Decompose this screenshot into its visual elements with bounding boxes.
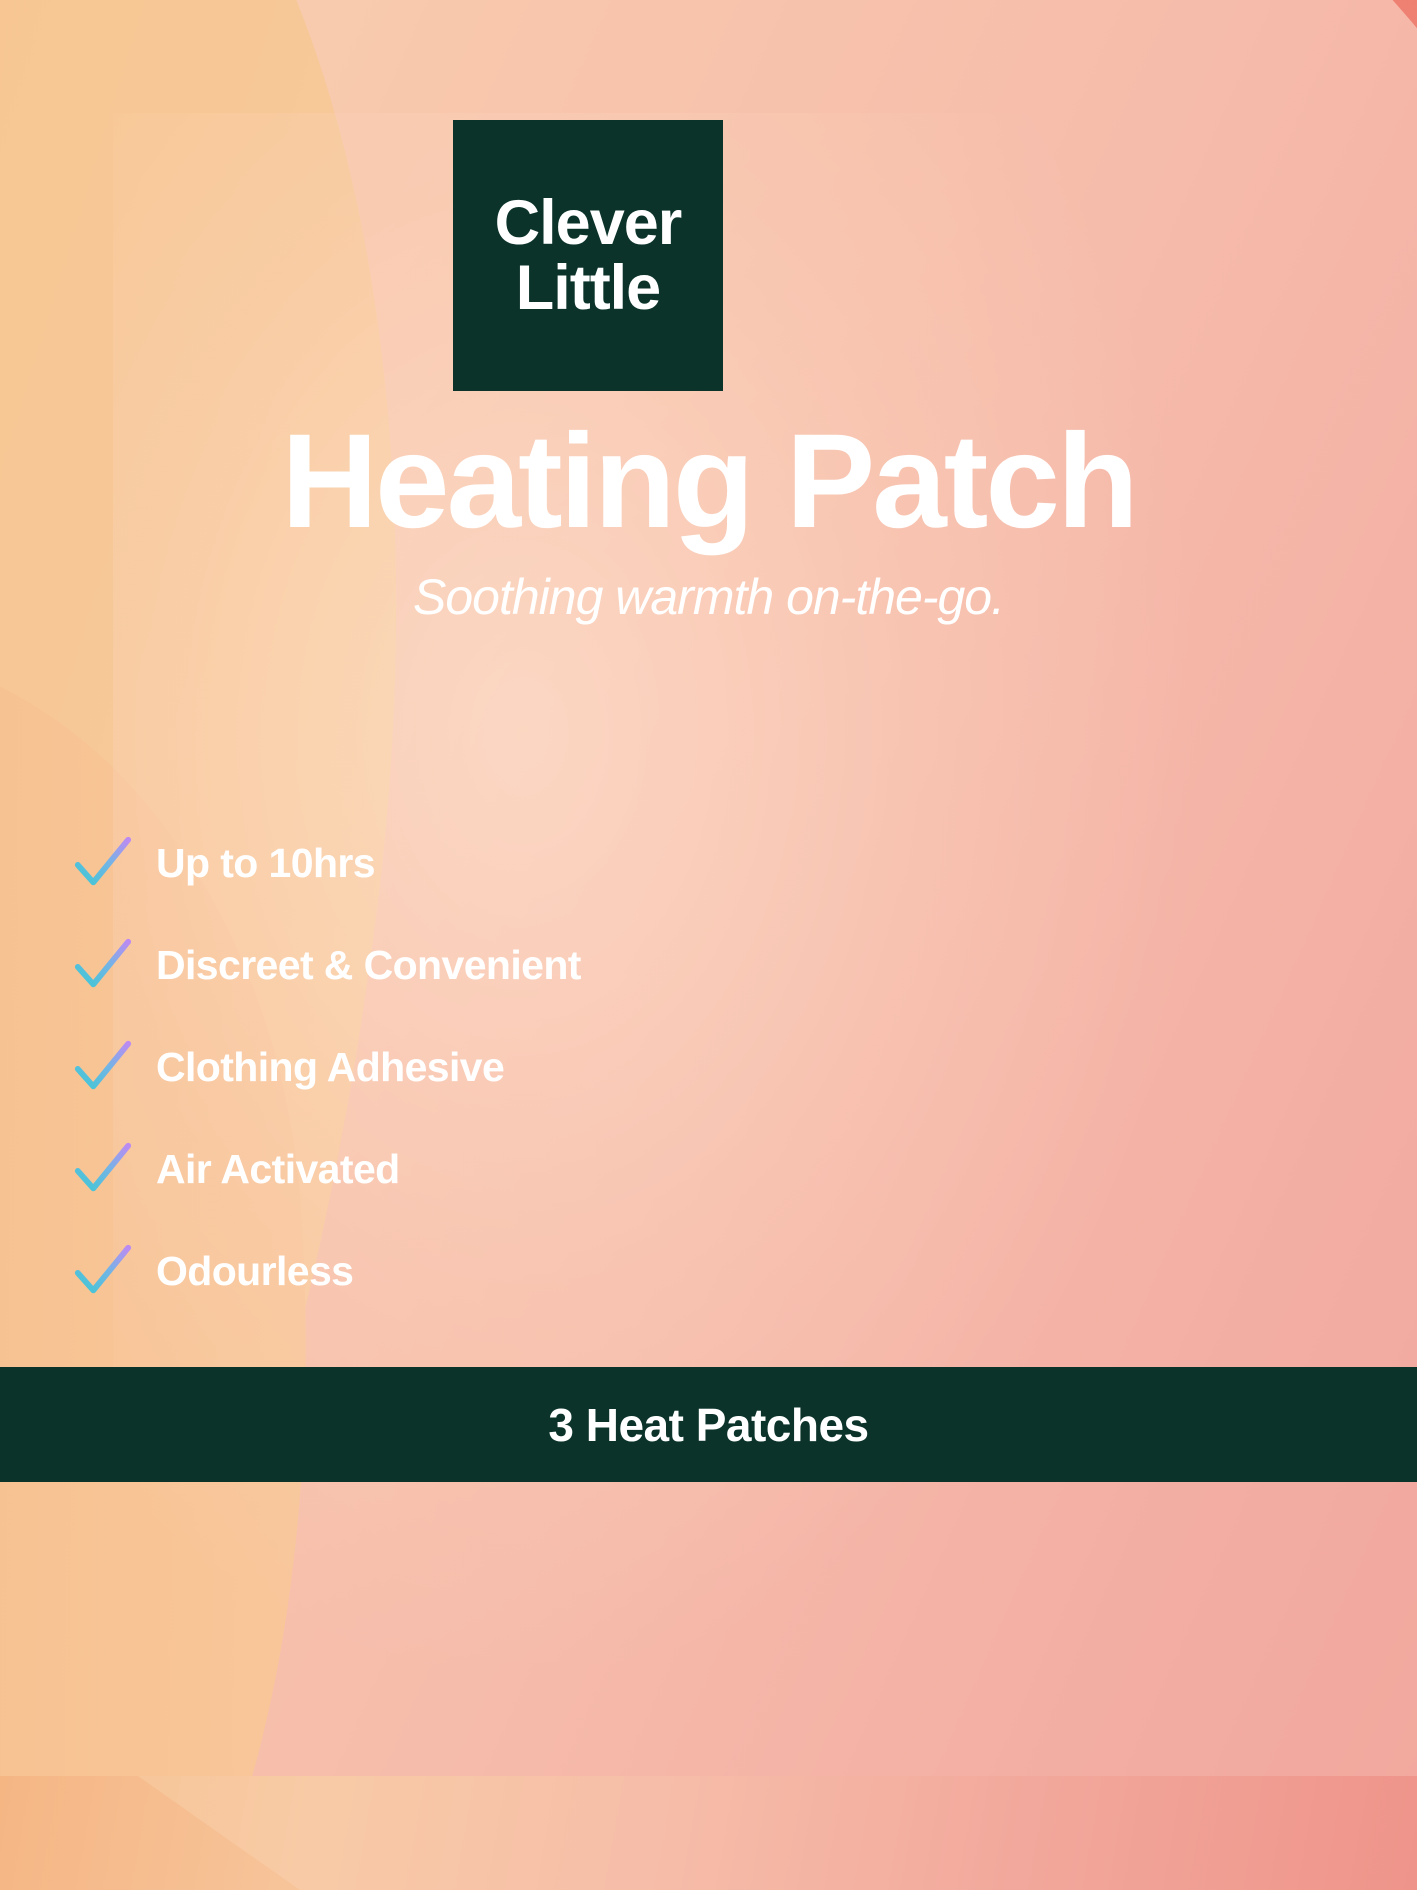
list-item: Air Activated (72, 1118, 972, 1220)
feature-label: Up to 10hrs (156, 843, 375, 884)
feature-label: Discreet & Convenient (156, 945, 581, 986)
quantity-label: 3 Heat Patches (548, 1398, 868, 1452)
list-item: Clothing Adhesive (72, 1016, 972, 1118)
package-front-panel: Clever Little Heating Patch Soothing war… (0, 0, 1417, 1890)
check-icon (72, 1036, 134, 1098)
list-item: Up to 10hrs (72, 812, 972, 914)
feature-list: Up to 10hrs Discreet & Convenient Clothi… (72, 812, 972, 1322)
check-icon (72, 832, 134, 894)
check-icon (72, 1240, 134, 1302)
brand-logo-text: Clever Little (495, 191, 682, 320)
check-icon (72, 1138, 134, 1200)
product-title: Heating Patch (0, 415, 1417, 549)
quantity-banner: 3 Heat Patches (0, 1367, 1417, 1482)
feature-label: Odourless (156, 1251, 353, 1292)
product-tagline: Soothing warmth on-the-go. (0, 568, 1417, 626)
feature-label: Air Activated (156, 1149, 400, 1190)
list-item: Discreet & Convenient (72, 914, 972, 1016)
check-icon (72, 934, 134, 996)
feature-label: Clothing Adhesive (156, 1047, 504, 1088)
list-item: Odourless (72, 1220, 972, 1322)
brand-logo-box: Clever Little (453, 120, 723, 391)
